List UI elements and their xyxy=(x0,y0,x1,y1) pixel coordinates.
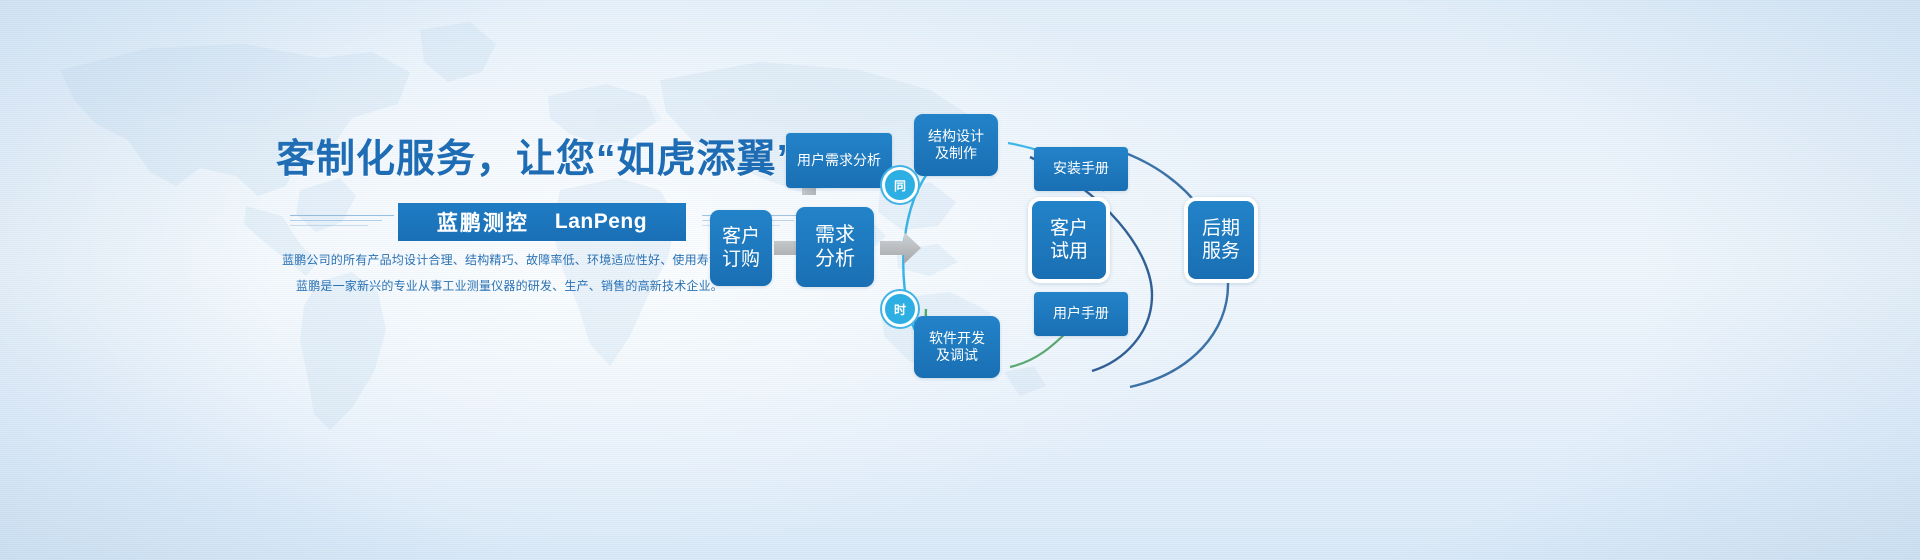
divider-left xyxy=(290,215,394,229)
flow-node-software-development[interactable]: 软件开发 及调试 xyxy=(914,316,1000,378)
brand-name-en: LanPeng xyxy=(555,210,647,234)
flow-node-demand-analysis[interactable]: 需求 分析 xyxy=(796,207,874,287)
flow-node-label-line1: 结构设计 xyxy=(928,128,984,145)
flow-node-customer-trial[interactable]: 客户 试用 xyxy=(1028,197,1110,283)
description-line-2: 蓝鹏是一家新兴的专业从事工业测量仪器的研发、生产、销售的高新技术企业。 xyxy=(282,278,682,295)
flow-node-structure-design[interactable]: 结构设计 及制作 xyxy=(914,114,998,176)
flow-node-label-line1: 需求 xyxy=(815,223,855,247)
flow-node-label-line1: 后期 xyxy=(1202,217,1240,240)
badge-tong-icon: 同 xyxy=(882,167,918,203)
flow-node-install-manual[interactable]: 安装手册 xyxy=(1034,147,1128,191)
badge-shi-icon: 时 xyxy=(882,291,918,327)
flow-node-label: 用户需求分析 xyxy=(797,152,881,169)
flow-node-label-line2: 服务 xyxy=(1202,240,1240,263)
flow-node-user-demand-analysis[interactable]: 用户需求分析 xyxy=(786,133,892,188)
flow-node-label-line2: 订购 xyxy=(722,248,760,271)
flow-node-label-line2: 及制作 xyxy=(928,145,984,162)
flow-node-customer-order[interactable]: 客户 订购 xyxy=(710,210,772,286)
badge-label: 同 xyxy=(894,177,906,194)
flow-node-user-manual[interactable]: 用户手册 xyxy=(1034,292,1128,336)
badge-label: 时 xyxy=(894,301,906,318)
flow-node-label: 用户手册 xyxy=(1053,305,1109,322)
brand-name-cn: 蓝鹏测控 xyxy=(437,207,529,237)
flow-node-after-sales[interactable]: 后期 服务 xyxy=(1184,197,1258,283)
description-block: 蓝鹏公司的所有产品均设计合理、结构精巧、故障率低、环境适应性好、使用寿命长。 蓝… xyxy=(282,252,682,305)
flow-node-label-line2: 及调试 xyxy=(929,347,985,364)
flow-node-label-line2: 试用 xyxy=(1050,240,1088,263)
brand-plate: 蓝鹏测控 LanPeng xyxy=(398,203,686,241)
flow-node-label: 安装手册 xyxy=(1053,160,1109,177)
flow-node-label-line1: 客户 xyxy=(722,225,760,248)
flow-node-label-line1: 软件开发 xyxy=(929,330,985,347)
arrow-analysis-to-next xyxy=(878,231,922,265)
process-flow-diagram: 用户需求分析 客户 订购 需求 分析 结构设计 及制作 软件开发 及调试 xyxy=(700,95,1920,405)
banner-stage: 客制化服务，让您“如虎添翼” 蓝鹏测控 LanPeng 蓝鹏公司的所有产品均设计… xyxy=(0,0,1920,560)
flow-node-label-line2: 分析 xyxy=(815,247,855,271)
flow-node-label-line1: 客户 xyxy=(1050,217,1088,240)
description-line-1: 蓝鹏公司的所有产品均设计合理、结构精巧、故障率低、环境适应性好、使用寿命长。 xyxy=(282,252,682,269)
